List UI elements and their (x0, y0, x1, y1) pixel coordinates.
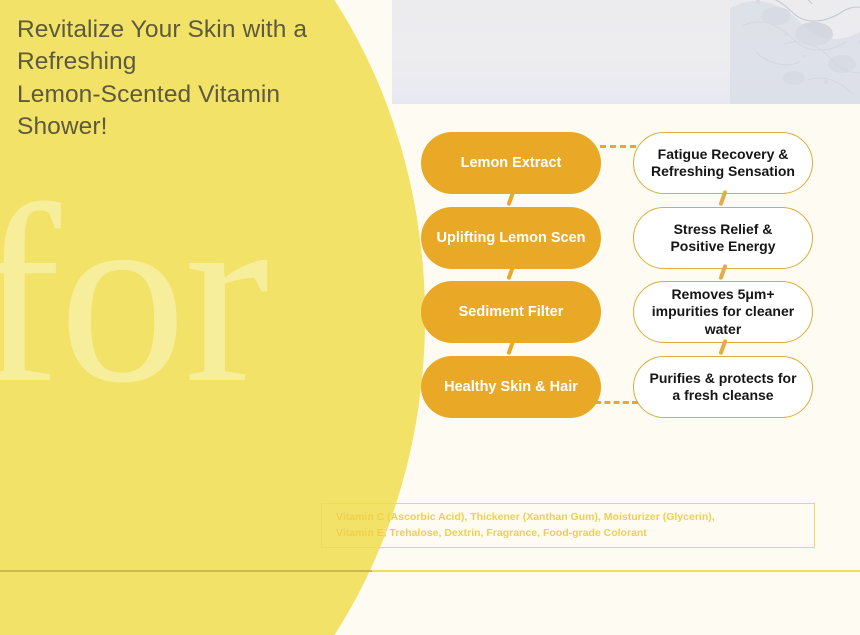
connector-row4-horizontal (586, 401, 638, 404)
feature-pill-lemon-extract[interactable]: Lemon Extract (421, 132, 601, 194)
feature-pill-uplifting-lemon-scent[interactable]: Uplifting Lemon Scen (421, 207, 601, 269)
benefit-pill-stress-relief[interactable]: Stress Relief & Positive Energy (633, 207, 813, 269)
ingredients-text: Vitamin C (Ascorbic Acid), Thickener (Xa… (336, 510, 715, 542)
benefit-pill-removes-impurities[interactable]: Removes 5μm+ impurities for cleaner wate… (633, 281, 813, 343)
ingredients-box: Vitamin C (Ascorbic Acid), Thickener (Xa… (321, 503, 815, 548)
slide-canvas: for Revitalize Your Skin with a Refreshi… (0, 0, 860, 635)
benefit-pill-purifies-protects[interactable]: Purifies & protects for a fresh cleanse (633, 356, 813, 418)
footer-divider-overlap (0, 570, 372, 572)
feature-pill-healthy-skin-hair[interactable]: Healthy Skin & Hair (421, 356, 601, 418)
connector-row1-horizontal (600, 145, 636, 148)
ingredients-line-2: Vitamin E, Trehalose, Dextrin, Fragrance… (336, 526, 715, 542)
feature-pill-sediment-filter[interactable]: Sediment Filter (421, 281, 601, 343)
ingredients-line-1: Vitamin C (Ascorbic Acid), Thickener (Xa… (336, 510, 715, 526)
benefit-pill-fatigue-recovery[interactable]: Fatigue Recovery & Refreshing Sensation (633, 132, 813, 194)
